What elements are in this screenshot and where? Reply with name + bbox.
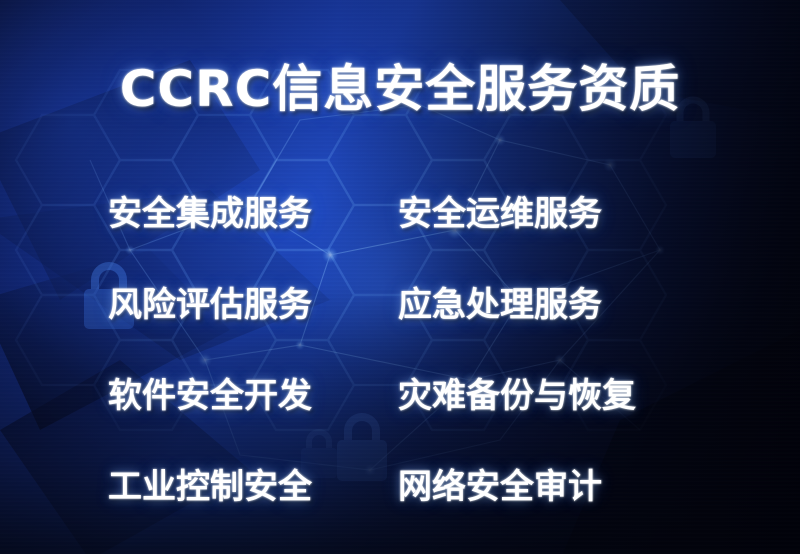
- service-item: 安全运维服务: [398, 194, 708, 234]
- service-row: 工业控制安全 网络安全审计: [108, 441, 708, 532]
- service-item: 安全集成服务: [108, 194, 398, 234]
- poster-content: CCRC信息安全服务资质 安全集成服务 安全运维服务 风险评估服务 应急处理服务…: [0, 0, 800, 554]
- service-row: 安全集成服务 安全运维服务: [108, 168, 708, 259]
- service-item: 网络安全审计: [398, 467, 708, 507]
- page-title: CCRC信息安全服务资质: [0, 60, 800, 118]
- service-row: 软件安全开发 灾难备份与恢复: [108, 350, 708, 441]
- service-list: 安全集成服务 安全运维服务 风险评估服务 应急处理服务 软件安全开发 灾难备份与…: [108, 168, 708, 532]
- service-item: 风险评估服务: [108, 285, 398, 325]
- service-item: 软件安全开发: [108, 376, 398, 416]
- service-item: 应急处理服务: [398, 285, 708, 325]
- service-item: 灾难备份与恢复: [398, 376, 708, 416]
- service-row: 风险评估服务 应急处理服务: [108, 259, 708, 350]
- ccrc-qualification-poster: CCRC信息安全服务资质 安全集成服务 安全运维服务 风险评估服务 应急处理服务…: [0, 0, 800, 554]
- service-item: 工业控制安全: [108, 467, 398, 507]
